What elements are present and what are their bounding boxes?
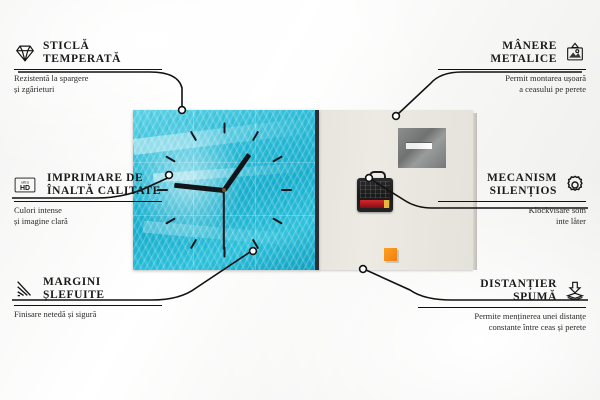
- callout-header: DISTANȚIER SPUMĂ: [418, 278, 586, 303]
- callout-sticla-temperata: STICLĂ TEMPERATĂ Rezistentă la spargere …: [14, 40, 162, 94]
- callout-header: STICLĂ TEMPERATĂ: [14, 40, 162, 65]
- diamond-icon: [14, 42, 36, 64]
- callout-divider: [14, 305, 162, 306]
- clock-tick: [223, 123, 225, 134]
- callout-margini-slefuite: MARGINI ȘLEFUITE Finisare netedă și sigu…: [14, 276, 162, 320]
- callout-subtitle: Permite menținerea unei distanțe constan…: [418, 311, 586, 332]
- callout-mecanism-silentios: MECANISM SILENȚIOS Klockvisare som inte …: [438, 172, 586, 226]
- clock-center-dot: [222, 188, 226, 192]
- battery-plus-terminal: [384, 200, 389, 208]
- ultra-hd-icon: ultra HD: [14, 174, 40, 196]
- polished-edge-icon: [14, 278, 36, 300]
- callout-title: DISTANȚIER SPUMĂ: [480, 278, 557, 303]
- ultra-hd-main-label: HD: [20, 185, 30, 192]
- mechanism-texture: [360, 181, 390, 198]
- clock-tick: [165, 217, 176, 224]
- picture-hanger-icon: [564, 42, 586, 64]
- callout-divider: [438, 201, 586, 202]
- callout-distantier-spuma: DISTANȚIER SPUMĂ Permite menținerea unei…: [418, 278, 586, 332]
- product-illustration: [133, 110, 473, 270]
- clock-tick: [272, 217, 283, 224]
- panel-seam: [133, 162, 315, 163]
- callout-header: ultra HD IMPRIMARE DE ÎNALTĂ CALITATE: [14, 172, 162, 197]
- glass-glare: [143, 221, 313, 248]
- clock-hour-hand: [222, 153, 251, 192]
- callout-imprimare-inalta-calitate: ultra HD IMPRIMARE DE ÎNALTĂ CALITATE Cu…: [14, 172, 162, 226]
- callout-subtitle: Finisare netedă și sigură: [14, 309, 162, 320]
- callout-title: STICLĂ TEMPERATĂ: [43, 40, 121, 65]
- clock-second-hand: [223, 190, 225, 250]
- callout-manere-metalice: MÂNERE METALICE Permit montarea ușoară a…: [438, 40, 586, 94]
- callout-divider: [418, 307, 586, 308]
- battery: [360, 200, 390, 208]
- callout-title: IMPRIMARE DE ÎNALTĂ CALITATE: [47, 172, 161, 197]
- clock-minute-hand: [174, 182, 224, 192]
- callout-title: MARGINI ȘLEFUITE: [43, 276, 105, 301]
- callout-subtitle: Permit montarea ușoară a ceasului pe per…: [438, 73, 586, 94]
- foam-spacer-icon: [564, 280, 586, 302]
- infographic-canvas: STICLĂ TEMPERATĂ Rezistentă la spargere …: [0, 0, 600, 400]
- foam-spacer-pad: [384, 248, 397, 261]
- callout-subtitle: Klockvisare som inte låter: [438, 205, 586, 226]
- clock-mechanism-box: [357, 178, 393, 212]
- clock-tick: [281, 189, 292, 191]
- ultra-hd-top-label: ultra: [21, 180, 29, 184]
- callout-divider: [438, 69, 586, 70]
- gear-icon: [564, 174, 586, 196]
- callout-header: MECANISM SILENȚIOS: [438, 172, 586, 197]
- callout-subtitle: Rezistentă la spargere și zgârieturi: [14, 73, 162, 94]
- callout-divider: [14, 201, 162, 202]
- callout-title: MÂNERE METALICE: [490, 40, 557, 65]
- hanger-slot: [406, 142, 432, 149]
- callout-header: MÂNERE METALICE: [438, 40, 586, 65]
- callout-divider: [14, 69, 162, 70]
- callout-title: MECANISM SILENȚIOS: [487, 172, 557, 197]
- callout-subtitle: Culori intense și imagine clară: [14, 205, 162, 226]
- metal-hanger-plate: [398, 128, 446, 168]
- callout-header: MARGINI ȘLEFUITE: [14, 276, 162, 301]
